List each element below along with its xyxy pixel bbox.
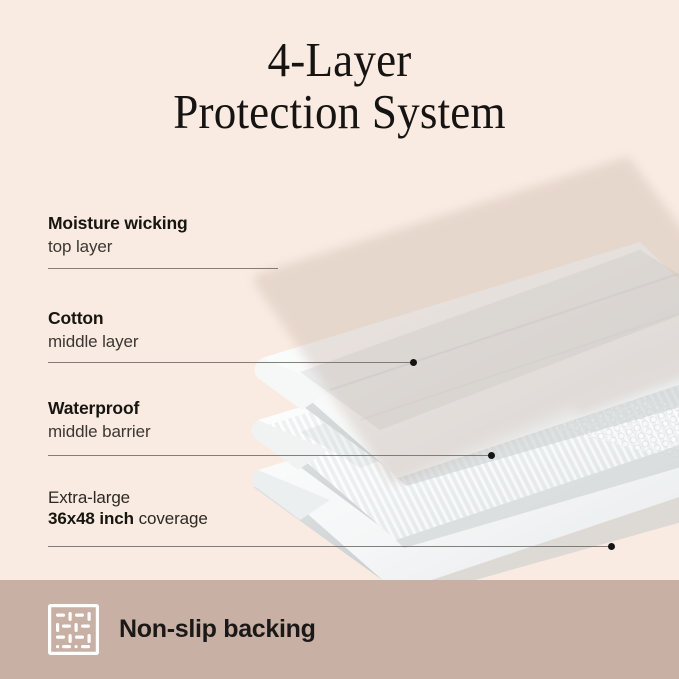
infographic-canvas: 4-Layer Protection System xyxy=(0,0,679,679)
label-size-line: 36x48 inch coverage xyxy=(48,508,208,529)
leader-line-moisture-wicking xyxy=(48,268,278,269)
non-slip-banner: Non-slip backing xyxy=(0,580,679,679)
layer-label-group: Moisture wicking top layer Cotton middle… xyxy=(0,0,679,679)
label-size-value: 36x48 inch xyxy=(48,509,134,528)
label-heading-moisture-wicking: Moisture wicking xyxy=(48,213,188,234)
leader-line-waterproof xyxy=(48,455,492,456)
non-slip-banner-label: Non-slip backing xyxy=(119,615,316,644)
label-subtitle-cotton: middle layer xyxy=(48,332,138,352)
label-block-waterproof: Waterproof middle barrier xyxy=(48,398,151,442)
label-size-suffix: coverage xyxy=(134,509,208,528)
leader-dot-extra-large xyxy=(608,543,615,550)
label-block-cotton: Cotton middle layer xyxy=(48,308,138,352)
label-subtitle-moisture-wicking: top layer xyxy=(48,237,188,257)
leader-line-extra-large xyxy=(48,546,612,547)
label-size-prefix: Extra-large xyxy=(48,487,208,508)
label-heading-waterproof: Waterproof xyxy=(48,398,151,419)
label-block-moisture-wicking: Moisture wicking top layer xyxy=(48,213,188,257)
leader-dot-waterproof xyxy=(488,452,495,459)
label-subtitle-waterproof: middle barrier xyxy=(48,422,151,442)
woven-backing-icon xyxy=(48,604,99,655)
leader-line-cotton xyxy=(48,362,414,363)
leader-dot-cotton xyxy=(410,359,417,366)
non-slip-banner-content: Non-slip backing xyxy=(48,580,316,679)
label-heading-cotton: Cotton xyxy=(48,308,138,329)
label-block-extra-large: Extra-large 36x48 inch coverage xyxy=(48,487,208,530)
